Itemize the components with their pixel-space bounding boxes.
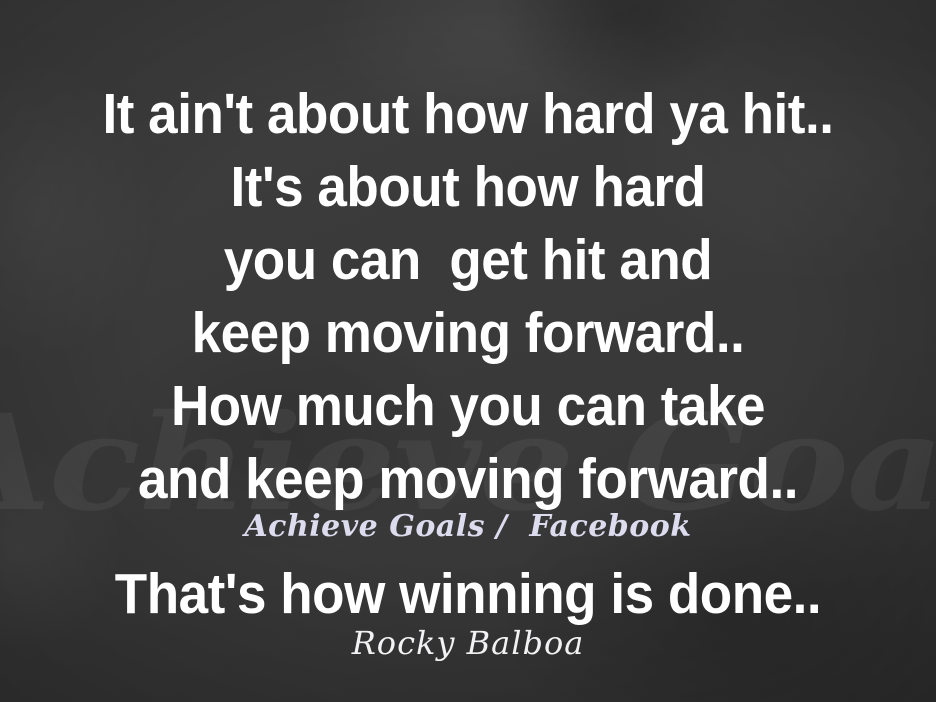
quote-image: Achieve Goals It ain't about how hard ya… (0, 0, 936, 702)
quote-line-3: you can get hit and (33, 224, 903, 297)
quote-line-5: How much you can take (33, 370, 903, 443)
quote-line-1: It ain't about how hard ya hit.. (33, 78, 903, 151)
quote-block: It ain't about how hard ya hit.. It's ab… (0, 0, 936, 516)
quote-line-2: It's about how hard (33, 151, 903, 224)
quote-line-6: and keep moving forward.. (33, 443, 903, 516)
author-signature: Rocky Balboa (0, 624, 936, 662)
quote-final-line: That's how winning is done.. (33, 561, 903, 627)
credit-line: Achieve Goals / Facebook (0, 509, 936, 544)
quote-line-4: keep moving forward.. (33, 297, 903, 370)
